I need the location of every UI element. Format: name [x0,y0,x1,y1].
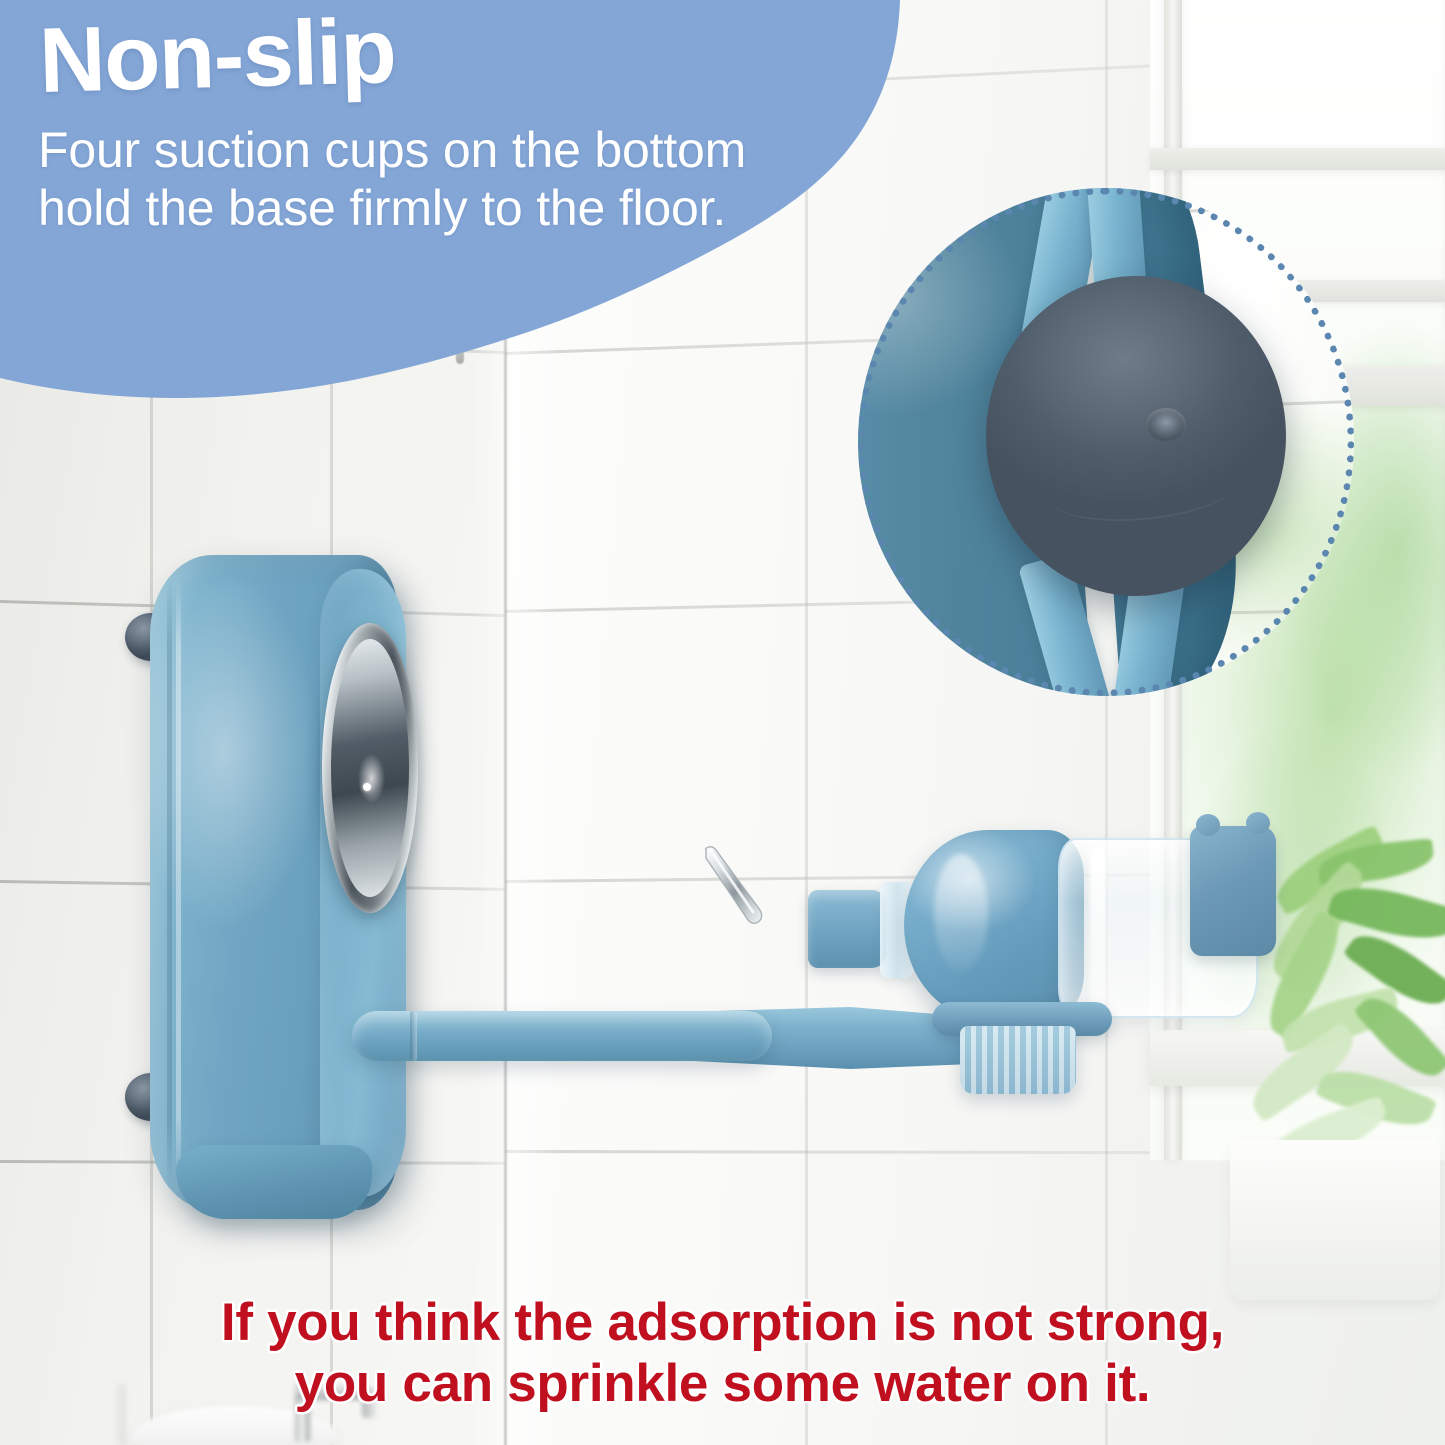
chrome-oval-inner [331,639,409,897]
bottle-screw-base [960,1026,1076,1094]
window-mullion-upper [1150,148,1445,170]
arm-joint-ring [410,1011,417,1061]
suction-cup-closeup-inset [858,188,1354,696]
bottle-highlight [1090,848,1106,1008]
inset-disc [858,188,1354,696]
base-lower-lip [176,1145,372,1219]
product-infographic: Non-slip Four suction cups on the bottom… [0,0,1445,1445]
wall-base-unit [120,545,420,1225]
bottom-caption: If you think the adsorption is not stron… [0,1292,1445,1415]
base-seam-highlight [176,577,181,1189]
chrome-oval-bezel [322,623,418,913]
chrome-highlight-dot [363,783,371,791]
inset-suction-cup [986,276,1286,596]
bottle-head-highlight [934,854,988,972]
callout-headline: Non-slip [38,0,832,105]
water-bottle-assembly [690,820,1290,1110]
chrome-drinking-nozzle [698,840,808,936]
caption-line-1: If you think the adsorption is not stron… [221,1293,1224,1352]
inset-suction-cup-center-nub [1146,408,1186,442]
bottle-head [904,830,1084,1020]
base-seam-shadow [167,575,172,1191]
bottle-end-cap [1190,826,1276,956]
callout-body-text: Four suction cups on the bottom hold the… [38,121,768,237]
caption-line-2: you can sprinkle some water on it. [0,1353,1445,1414]
bottle-cap [808,890,886,968]
inset-suction-cup-bowl [1008,306,1264,568]
plant-pot [1230,1140,1440,1300]
inset-photo [858,188,1354,696]
callout-text-block: Non-slip Four suction cups on the bottom… [0,0,830,400]
